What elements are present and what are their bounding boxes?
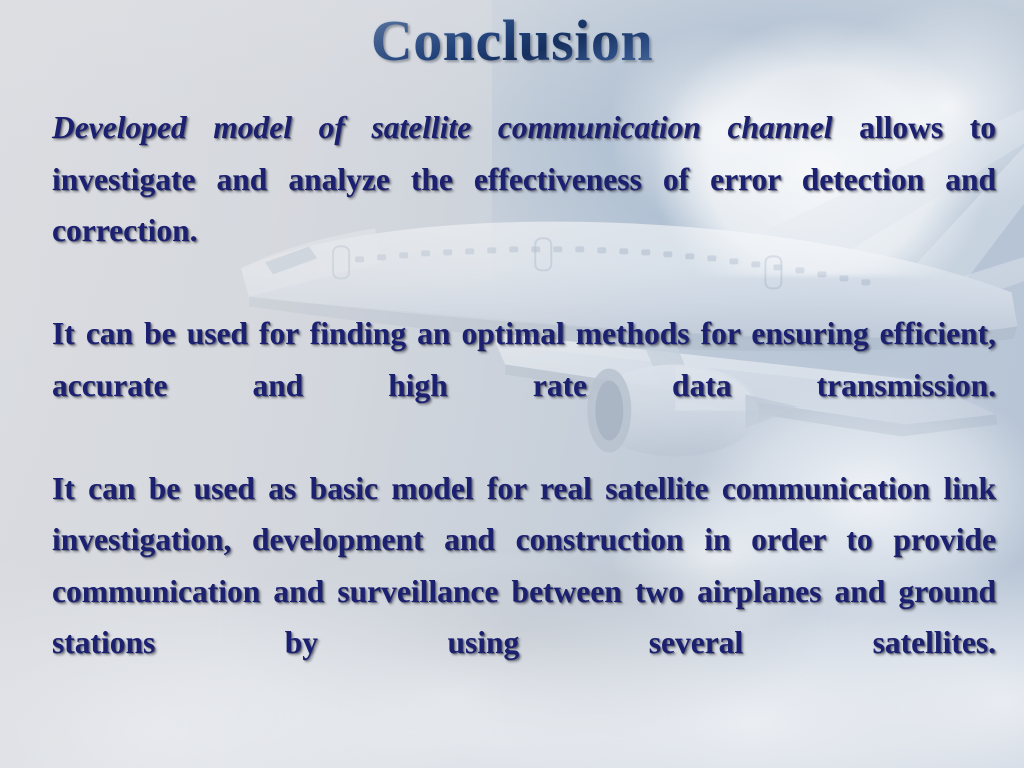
paragraph-2-rest: It can be used for finding an optimal me… (52, 316, 996, 403)
paragraph-3-rest: It can be used as basic model for real s… (52, 471, 996, 661)
paragraph-2: It can be used for finding an optimal me… (52, 308, 996, 463)
slide-title: Conclusion (371, 12, 653, 70)
slide-body-container: Developed model of satellite communicati… (52, 102, 996, 720)
presentation-slide: Conclusion Developed model of satellite … (0, 0, 1024, 768)
paragraph-1-lead: Developed model of satellite communicati… (52, 110, 833, 145)
paragraph-3: It can be used as basic model for real s… (52, 463, 996, 721)
paragraph-1: Developed model of satellite communicati… (52, 102, 996, 308)
slide-title-container: Conclusion (0, 12, 1024, 70)
